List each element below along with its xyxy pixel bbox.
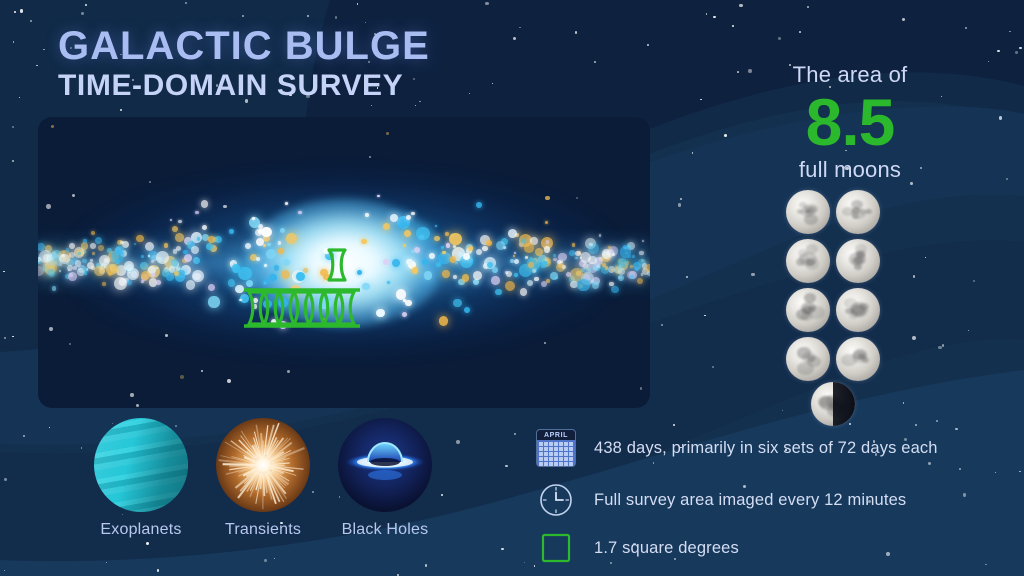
star-dot — [680, 198, 682, 200]
moon-grid — [786, 190, 882, 430]
calendar-day-cell — [544, 462, 548, 466]
full-moon-icon — [836, 190, 880, 234]
striped-planet-icon — [94, 418, 188, 512]
star-dot — [12, 160, 14, 162]
calendar-day-cell — [564, 447, 568, 451]
calendar-icon: APRIL — [534, 428, 578, 468]
calendar-day-cell — [569, 452, 573, 456]
survey-field-outline — [38, 117, 650, 408]
star-dot — [43, 49, 44, 50]
moon-bottom-label: full moons — [720, 157, 980, 183]
black-hole-icon — [338, 418, 432, 512]
moon-count-value: 8.5 — [720, 90, 980, 155]
half-moon-icon — [811, 382, 855, 426]
calendar-day-cell — [549, 457, 553, 461]
calendar-day-cell — [549, 447, 553, 451]
page-title: GALACTIC BULGE TIME-DOMAIN SURVEY — [58, 26, 430, 102]
title-line-2: TIME-DOMAIN SURVEY — [58, 69, 430, 103]
star-dot — [23, 435, 25, 437]
calendar-day-cell — [559, 447, 563, 451]
moon-mare — [854, 264, 862, 270]
fact-text: 438 days, primarily in six sets of 72 da… — [594, 439, 938, 458]
calendar-day-cell — [544, 442, 548, 446]
full-moon-icon — [786, 288, 830, 332]
moon-mare — [852, 351, 867, 363]
target-transients[interactable]: Transients — [201, 418, 325, 539]
star-dot — [81, 12, 84, 15]
calendar-day-cell — [569, 447, 573, 451]
star-dot — [242, 15, 244, 17]
calendar-grid — [537, 440, 575, 466]
calendar-day-cell — [539, 442, 543, 446]
fact-text: Full survey area imaged every 12 minutes — [594, 491, 906, 510]
star-dot — [959, 468, 961, 470]
star-dot — [264, 559, 267, 562]
moon-mare — [829, 398, 848, 413]
moon-mare — [819, 396, 837, 410]
calendar-day-cell — [564, 462, 568, 466]
star-dot — [157, 569, 160, 572]
star-dot — [942, 344, 944, 346]
target-label: Black Holes — [323, 521, 447, 539]
calendar-day-cell — [559, 452, 563, 456]
moon-mare — [804, 293, 816, 302]
star-dot — [999, 116, 1002, 119]
title-line-1: GALACTIC BULGE — [58, 26, 430, 67]
star-dot — [575, 31, 577, 33]
moon-mare — [807, 356, 821, 367]
calendar-day-cell — [549, 442, 553, 446]
full-moon-icon — [786, 239, 830, 283]
moon-mare — [832, 402, 846, 414]
calendar-day-cell — [539, 447, 543, 451]
galactic-bulge-image — [38, 117, 650, 408]
star-dot — [19, 97, 20, 98]
calendar-day-cell — [544, 452, 548, 456]
calendar-day-cell — [539, 462, 543, 466]
calendar-day-cell — [544, 457, 548, 461]
moon-mare — [805, 258, 819, 269]
calendar-day-cell — [559, 442, 563, 446]
calendar-day-cell — [564, 452, 568, 456]
star-dot — [12, 126, 14, 128]
star-dot — [3, 271, 4, 272]
star-dot — [997, 50, 1000, 53]
starburst-icon — [216, 418, 310, 512]
star-dot — [886, 552, 890, 556]
calendar-day-cell — [554, 442, 558, 446]
star-dot — [492, 83, 493, 84]
target-black-holes[interactable]: Black Holes — [323, 418, 447, 539]
moon-mare — [854, 256, 864, 264]
calendar-day-cell — [554, 447, 558, 451]
calendar-day-cell — [559, 462, 563, 466]
star-dot — [807, 6, 809, 8]
calendar-day-cell — [559, 457, 563, 461]
star-dot — [371, 105, 373, 107]
calendar-day-cell — [569, 457, 573, 461]
full-moon-icon — [836, 337, 880, 381]
green-square-icon — [534, 528, 578, 568]
calendar-day-cell — [569, 462, 573, 466]
star-dot — [925, 257, 926, 258]
moon-mare — [845, 308, 854, 315]
calendar-day-cell — [569, 442, 573, 446]
full-moon-icon — [836, 288, 880, 332]
infographic-canvas: GALACTIC BULGE TIME-DOMAIN SURVEY — [0, 0, 1024, 576]
fact-row-duration: APRIL 438 days, primarily in six sets of… — [534, 428, 938, 468]
star-dot — [505, 465, 508, 468]
full-moon-icon — [836, 239, 880, 283]
star-dot — [357, 3, 359, 5]
fact-row-cadence: Full survey area imaged every 12 minutes — [534, 480, 906, 520]
calendar-day-cell — [564, 457, 568, 461]
full-moon-icon — [786, 190, 830, 234]
target-exoplanets[interactable]: Exoplanets — [79, 418, 203, 539]
star-dot — [514, 433, 516, 435]
calendar-day-cell — [539, 452, 543, 456]
moon-mare — [804, 204, 817, 215]
calendar-day-cell — [544, 447, 548, 451]
moon-mare — [798, 249, 809, 258]
calendar-day-cell — [539, 457, 543, 461]
calendar-day-cell — [564, 442, 568, 446]
fact-text: 1.7 square degrees — [594, 539, 739, 558]
calendar-day-cell — [554, 457, 558, 461]
target-label: Transients — [201, 521, 325, 539]
calendar-day-cell — [549, 452, 553, 456]
clock-icon — [534, 480, 578, 520]
star-dot — [1015, 51, 1018, 54]
fact-row-area: 1.7 square degrees — [534, 528, 739, 568]
full-moon-icon — [786, 337, 830, 381]
calendar-day-cell — [554, 452, 558, 456]
star-dot — [912, 336, 916, 340]
star-dot — [4, 478, 7, 481]
star-dot — [335, 16, 338, 19]
star-dot — [963, 493, 966, 496]
moon-area-callout: The area of 8.5 full moons — [720, 62, 980, 183]
moon-mare — [865, 209, 872, 214]
star-dot — [678, 203, 682, 207]
star-dot — [751, 273, 755, 277]
calendar-day-cell — [554, 462, 558, 466]
calendar-day-cell — [549, 462, 553, 466]
moon-mare — [855, 244, 867, 253]
target-label: Exoplanets — [79, 521, 203, 539]
calendar-month-label: APRIL — [537, 430, 575, 440]
